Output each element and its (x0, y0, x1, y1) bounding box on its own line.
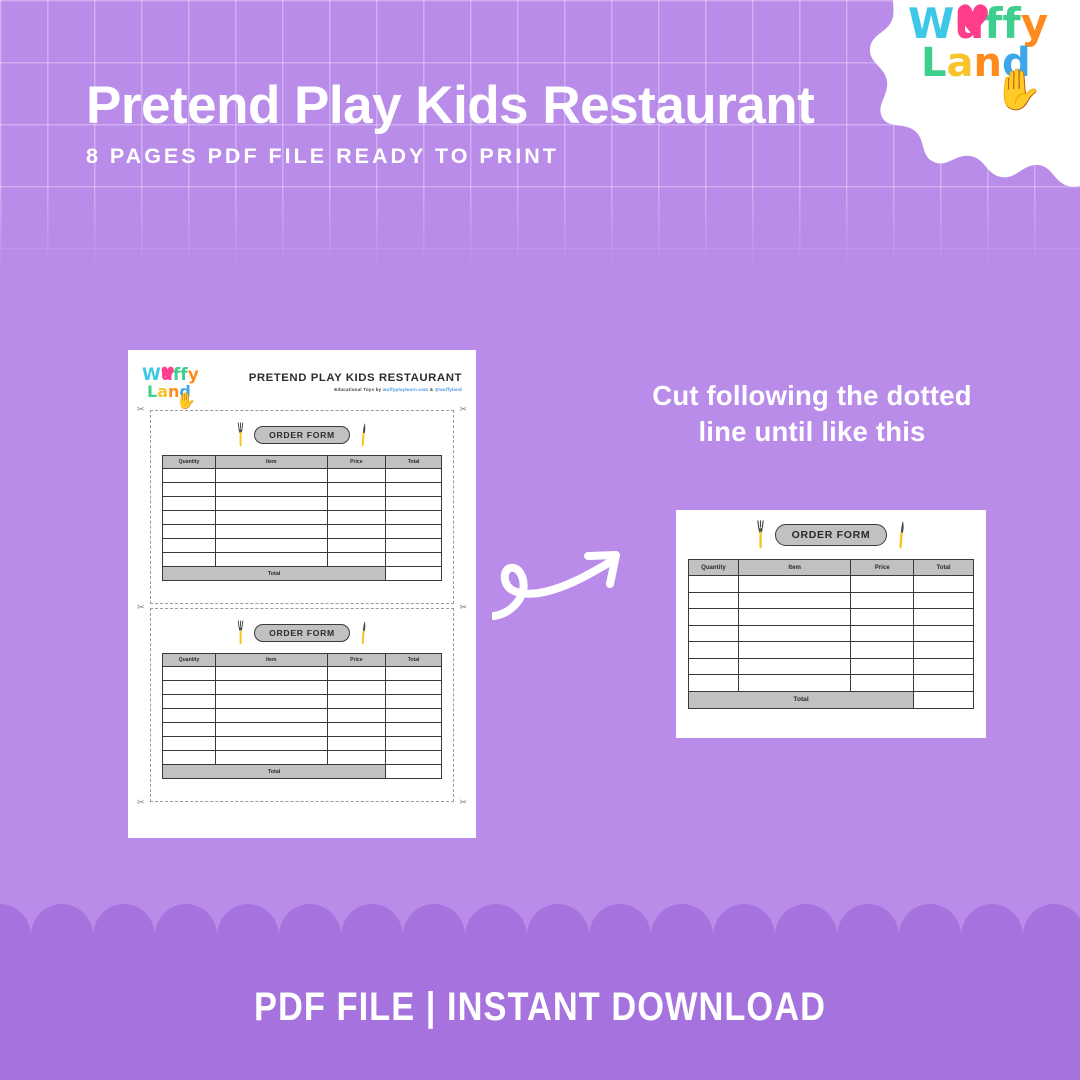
table-cell[interactable] (327, 737, 386, 751)
page-title: Pretend Play Kids Restaurant (86, 76, 866, 135)
table-row (689, 642, 974, 659)
col-total: Total (386, 456, 442, 469)
scissors-icon: ✂ (459, 405, 467, 414)
table-cell[interactable] (689, 642, 739, 659)
table-cell[interactable] (386, 709, 442, 723)
table-row (163, 539, 442, 553)
table-row (163, 469, 442, 483)
brand-letter-W: W (908, 4, 954, 43)
table-cell[interactable] (163, 751, 216, 765)
table-cell[interactable] (851, 592, 914, 609)
table-cell[interactable] (386, 667, 442, 681)
table-cell[interactable] (851, 576, 914, 593)
table-cell[interactable] (216, 539, 328, 553)
sheet-hand-icon: ✋ (176, 393, 196, 409)
table-cell[interactable] (689, 658, 739, 675)
fork-icon (755, 520, 766, 550)
table-row (163, 709, 442, 723)
table-cell[interactable] (386, 751, 442, 765)
table-cell[interactable] (327, 709, 386, 723)
scissors-icon: ✂ (137, 603, 145, 612)
sheet-title: PRETEND PLAY KIDS RESTAURANT (249, 372, 462, 384)
sheet-brand-line-2: Land ✋ (147, 384, 206, 400)
order-table-foot: Total (163, 765, 442, 779)
table-cell[interactable] (163, 667, 216, 681)
banner-text: PDF FILE | INSTANT DOWNLOAD (76, 935, 1005, 1080)
col-quantity: Quantity (163, 456, 216, 469)
table-cell[interactable] (386, 737, 442, 751)
col-item: Item (216, 654, 328, 667)
table-cell[interactable] (851, 658, 914, 675)
table-row (689, 625, 974, 642)
table-cell[interactable] (327, 469, 386, 483)
table-cell[interactable] (327, 553, 386, 567)
page-subtitle: 8 PAGES PDF FILE READY TO PRINT (86, 144, 866, 169)
table-cell[interactable] (163, 483, 216, 497)
table-cell[interactable] (327, 751, 386, 765)
order-form-2: ORDER FORM Quantity Item Price Total Tot… (162, 620, 442, 779)
sheet-brand-letter-L: L (147, 384, 157, 399)
order-table-head: Quantity Item Price Total (689, 560, 974, 576)
col-total: Total (914, 560, 974, 576)
order-table-body (163, 469, 442, 567)
table-row (163, 553, 442, 567)
scissors-icon: ✂ (459, 798, 467, 807)
total-value[interactable] (386, 765, 442, 779)
sheet-brand-logo: Wuffy ♥ Land ✋ (142, 368, 206, 406)
table-cell[interactable] (216, 483, 328, 497)
sheet-header: Wuffy ♥ Land ✋ PRETEND PLAY KIDS RESTAUR… (128, 362, 476, 408)
table-cell[interactable] (914, 576, 974, 593)
total-value[interactable] (914, 691, 974, 708)
table-cell[interactable] (163, 681, 216, 695)
order-form-badge: ORDER FORM (254, 624, 350, 642)
table-cell[interactable] (163, 539, 216, 553)
table-row (163, 737, 442, 751)
col-price: Price (327, 654, 386, 667)
order-table-foot: Total (163, 567, 442, 581)
table-cell[interactable] (216, 511, 328, 525)
table-cell[interactable] (327, 667, 386, 681)
table-cell[interactable] (689, 592, 739, 609)
table-cell[interactable] (386, 497, 442, 511)
table-row (163, 723, 442, 737)
scissors-icon: ✂ (137, 798, 145, 807)
table-cell[interactable] (163, 695, 216, 709)
brand-badge: Wuffy ♥ Land ✋ (856, 0, 1080, 194)
knife-icon (359, 620, 368, 646)
table-cell[interactable] (216, 553, 328, 567)
col-price: Price (851, 560, 914, 576)
order-table-body (163, 667, 442, 765)
table-row (689, 592, 974, 609)
order-form-header: ORDER FORM (162, 620, 442, 646)
knife-icon (896, 520, 907, 550)
table-cell[interactable] (327, 511, 386, 525)
table-cell[interactable] (738, 625, 851, 642)
table-header-row: Quantity Item Price Total (163, 654, 442, 667)
table-cell[interactable] (386, 553, 442, 567)
col-quantity: Quantity (163, 654, 216, 667)
table-cell[interactable] (216, 723, 328, 737)
table-cell[interactable] (738, 658, 851, 675)
table-row (163, 525, 442, 539)
order-table-head: Quantity Item Price Total (163, 456, 442, 469)
table-row (689, 609, 974, 626)
table-total-row: Total (163, 567, 442, 581)
brand-logo: Wuffy ♥ Land ✋ (908, 4, 1058, 124)
order-form-badge: ORDER FORM (254, 426, 350, 444)
table-cell[interactable] (216, 737, 328, 751)
table-row (689, 576, 974, 593)
table-cell[interactable] (163, 723, 216, 737)
order-table-head: Quantity Item Price Total (163, 654, 442, 667)
table-row (163, 497, 442, 511)
table-cell[interactable] (738, 642, 851, 659)
table-cell[interactable] (216, 709, 328, 723)
table-cell[interactable] (386, 681, 442, 695)
table-cell[interactable] (386, 723, 442, 737)
table-cell[interactable] (851, 642, 914, 659)
knife-icon (359, 422, 368, 448)
fork-icon (236, 422, 245, 448)
brand-letter-L: L (921, 45, 947, 83)
order-form-header: ORDER FORM (688, 520, 974, 550)
cut-instruction-line-1: Cut following the dotted (640, 378, 984, 414)
scissors-icon: ✂ (137, 405, 145, 414)
cut-instruction: Cut following the dotted line until like… (640, 378, 984, 451)
table-cell[interactable] (851, 675, 914, 692)
brand-letter-y: y (1021, 4, 1048, 43)
order-table[interactable]: Quantity Item Price Total Total (688, 559, 974, 709)
sheet-credit: Educational Toys by wuffyplaylearn.com &… (249, 387, 462, 392)
table-header-row: Quantity Item Price Total (689, 560, 974, 576)
table-cell[interactable] (738, 609, 851, 626)
order-table[interactable]: Quantity Item Price Total Total (162, 653, 442, 779)
table-cell[interactable] (327, 681, 386, 695)
col-item: Item (216, 456, 328, 469)
table-cell[interactable] (216, 667, 328, 681)
table-cell[interactable] (914, 642, 974, 659)
order-table[interactable]: Quantity Item Price Total Total (162, 455, 442, 581)
printable-sheet-preview[interactable]: Wuffy ♥ Land ✋ PRETEND PLAY KIDS RESTAUR… (128, 350, 476, 838)
table-cell[interactable] (327, 497, 386, 511)
table-cell[interactable] (163, 525, 216, 539)
table-row (163, 483, 442, 497)
table-row (163, 511, 442, 525)
table-cell[interactable] (386, 511, 442, 525)
order-form-header: ORDER FORM (162, 422, 442, 448)
col-total: Total (386, 654, 442, 667)
brand-letter-f2: f (1003, 4, 1021, 43)
heart-icon: ♥ (954, 0, 992, 42)
table-cell[interactable] (689, 576, 739, 593)
order-table-foot: Total (689, 691, 974, 708)
table-cell[interactable] (689, 675, 739, 692)
table-cell[interactable] (327, 525, 386, 539)
table-cell[interactable] (851, 625, 914, 642)
table-cell[interactable] (216, 695, 328, 709)
table-cell[interactable] (914, 658, 974, 675)
table-cell[interactable] (851, 609, 914, 626)
order-table-body (689, 576, 974, 692)
col-item: Item (738, 560, 851, 576)
table-cell[interactable] (163, 553, 216, 567)
table-row (163, 751, 442, 765)
scallop-edge (0, 904, 1080, 936)
table-row (689, 658, 974, 675)
table-cell[interactable] (216, 681, 328, 695)
table-cell[interactable] (738, 592, 851, 609)
table-cell[interactable] (216, 525, 328, 539)
cutout-order-form-card[interactable]: ORDER FORM Quantity Item Price Total Tot… (676, 510, 986, 738)
table-cell[interactable] (327, 483, 386, 497)
table-cell[interactable] (386, 525, 442, 539)
table-cell[interactable] (689, 625, 739, 642)
table-cell[interactable] (327, 723, 386, 737)
table-cell[interactable] (216, 751, 328, 765)
table-cell[interactable] (216, 469, 328, 483)
sheet-credit-prefix: Educational Toys by (334, 387, 383, 392)
table-cell[interactable] (689, 609, 739, 626)
table-cell[interactable] (163, 709, 216, 723)
sheet-title-block: PRETEND PLAY KIDS RESTAURANT Educational… (249, 372, 462, 392)
brand-line-1: Wuffy ♥ (908, 4, 1058, 43)
table-cell[interactable] (163, 511, 216, 525)
col-quantity: Quantity (689, 560, 739, 576)
total-label: Total (163, 765, 386, 779)
sheet-credit-link: wuffyplaylearn.com (383, 387, 429, 392)
table-total-row: Total (163, 765, 442, 779)
table-row (163, 681, 442, 695)
table-cell[interactable] (386, 469, 442, 483)
table-row (163, 667, 442, 681)
table-cell[interactable] (738, 576, 851, 593)
table-cell[interactable] (327, 695, 386, 709)
order-form-badge: ORDER FORM (775, 524, 887, 546)
sheet-brand-letter-a: a (157, 384, 168, 399)
bottom-banner: PDF FILE | INSTANT DOWNLOAD (0, 935, 1080, 1080)
hand-icon: ✋ (993, 70, 1043, 110)
table-cell[interactable] (914, 625, 974, 642)
brand-letter-a: a (947, 45, 974, 83)
headline-block: Pretend Play Kids Restaurant 8 PAGES PDF… (86, 76, 866, 169)
table-cell[interactable] (914, 592, 974, 609)
table-cell[interactable] (163, 469, 216, 483)
total-label: Total (689, 691, 914, 708)
order-form-1: ORDER FORM Quantity Item Price Total Tot… (162, 422, 442, 581)
brand-line-2: Land ✋ (921, 45, 1058, 83)
table-row (689, 675, 974, 692)
table-row (163, 695, 442, 709)
table-cell[interactable] (163, 497, 216, 511)
total-label: Total (163, 567, 386, 581)
cut-instruction-line-2: line until like this (640, 414, 984, 450)
total-value[interactable] (386, 567, 442, 581)
scissors-icon: ✂ (459, 603, 467, 612)
table-cell[interactable] (327, 539, 386, 553)
table-cell[interactable] (386, 483, 442, 497)
table-cell[interactable] (914, 675, 974, 692)
table-total-row: Total (689, 691, 974, 708)
sheet-credit-handle: @wuffyland (435, 387, 462, 392)
fork-icon (236, 620, 245, 646)
table-cell[interactable] (914, 609, 974, 626)
table-cell[interactable] (386, 539, 442, 553)
table-header-row: Quantity Item Price Total (163, 456, 442, 469)
table-cell[interactable] (163, 737, 216, 751)
table-cell[interactable] (386, 695, 442, 709)
curly-arrow-icon (492, 540, 642, 620)
table-cell[interactable] (216, 497, 328, 511)
sheet-heart-icon: ♥ (160, 366, 175, 383)
table-cell[interactable] (738, 675, 851, 692)
col-price: Price (327, 456, 386, 469)
